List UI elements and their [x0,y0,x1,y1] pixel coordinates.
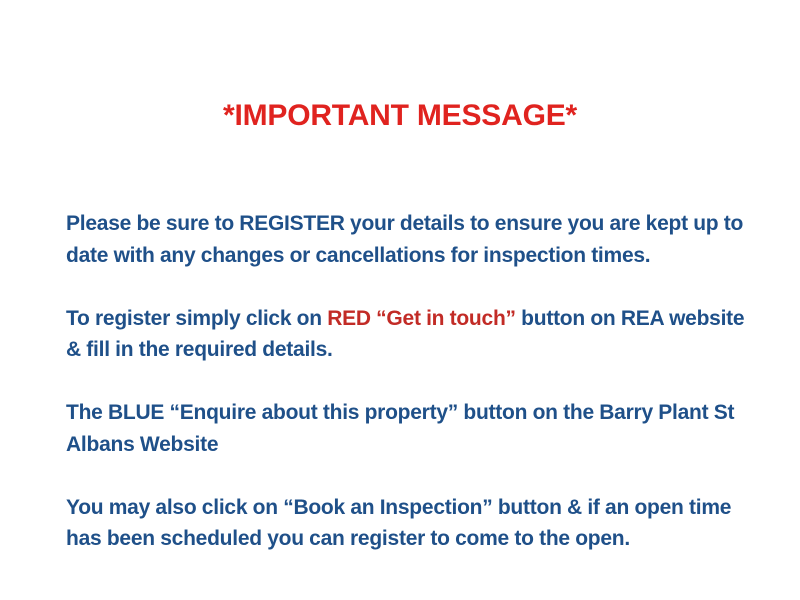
paragraph-barry-plant-enquire: The BLUE “Enquire about this property” b… [66,397,756,460]
text-run: You may also click on “Book an Inspectio… [66,496,731,551]
text-run: The BLUE “Enquire about this property” b… [66,401,734,456]
highlight-red-get-in-touch: RED “Get in touch” [327,307,516,330]
slide-canvas: *IMPORTANT MESSAGE* Please be sure to RE… [0,0,800,600]
paragraph-book-an-inspection: You may also click on “Book an Inspectio… [66,492,756,555]
paragraph-register-details: Please be sure to REGISTER your details … [66,208,756,271]
text-run: To register simply click on [66,307,327,330]
text-run: Please be sure to REGISTER your details … [66,212,743,267]
paragraph-rea-get-in-touch: To register simply click on RED “Get in … [66,303,756,366]
slide-body: Please be sure to REGISTER your details … [66,208,756,555]
page-title: *IMPORTANT MESSAGE* [0,99,800,133]
